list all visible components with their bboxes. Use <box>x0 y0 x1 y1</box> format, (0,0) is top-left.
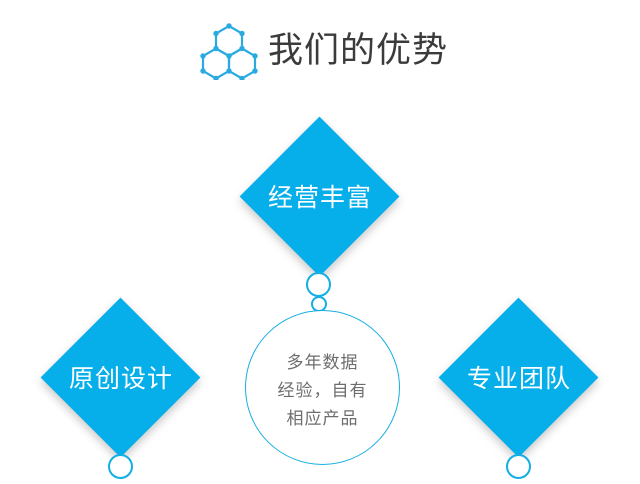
node-diamond-top[interactable] <box>240 117 400 277</box>
header: 我们的优势 <box>196 22 448 80</box>
hexagon-cluster-icon <box>196 22 262 80</box>
page-title: 我们的优势 <box>268 34 448 69</box>
center-circle[interactable]: 多年数据 经验，自有 相应产品 <box>245 310 400 465</box>
connector-circle-top-large <box>306 272 331 297</box>
connector-circle-right <box>506 454 531 479</box>
node-diamond-left[interactable] <box>41 298 201 458</box>
node-diamond-right[interactable] <box>439 298 599 458</box>
infographic-canvas: 我们的优势 经营丰富 原创设计 专业团队 多年数据 经验，自有 相应产品 <box>0 0 640 484</box>
connector-circle-left <box>108 454 133 479</box>
center-circle-text: 多年数据 经验，自有 相应产品 <box>278 343 368 433</box>
